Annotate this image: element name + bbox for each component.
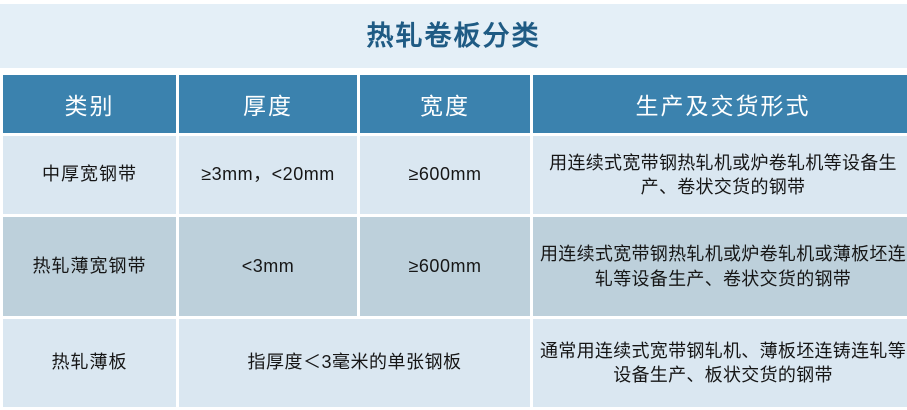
title-banner: 热轧卷板分类	[0, 4, 907, 68]
column-header-category: 类别	[3, 75, 176, 133]
document-root: 热轧卷板分类 类别 厚度 宽度 生产及交货形式 中厚宽钢带	[0, 0, 907, 402]
table-row: 热轧薄板 指厚度＜3毫米的单张钢板 通常用连续式宽带钢轧机、薄板坯连铸连轧等设备…	[3, 319, 907, 407]
page-title: 热轧卷板分类	[367, 23, 541, 50]
classification-table-wrapper: 类别 厚度 宽度 生产及交货形式 中厚宽钢带 ≥3mm，<20mm ≥600mm…	[0, 72, 907, 410]
table-row: 中厚宽钢带 ≥3mm，<20mm ≥600mm 用连续式宽带钢热轧机或炉卷轧机等…	[3, 136, 907, 214]
cell-thickness: <3mm	[179, 217, 357, 316]
column-header-width: 宽度	[360, 75, 530, 133]
classification-table: 类别 厚度 宽度 生产及交货形式 中厚宽钢带 ≥3mm，<20mm ≥600mm…	[0, 72, 907, 410]
table-body: 中厚宽钢带 ≥3mm，<20mm ≥600mm 用连续式宽带钢热轧机或炉卷轧机等…	[3, 136, 907, 407]
cell-description: 用连续式宽带钢热轧机或炉卷轧机或薄板坯连轧等设备生产、卷状交货的钢带	[533, 217, 907, 316]
cell-category: 中厚宽钢带	[3, 136, 176, 214]
cell-description: 用连续式宽带钢热轧机或炉卷轧机等设备生产、卷状交货的钢带	[533, 136, 907, 214]
column-header-thickness: 厚度	[179, 75, 357, 133]
cell-thickness-width-merged: 指厚度＜3毫米的单张钢板	[179, 319, 530, 407]
cell-thickness: ≥3mm，<20mm	[179, 136, 357, 214]
cell-width: ≥600mm	[360, 136, 530, 214]
table-header: 类别 厚度 宽度 生产及交货形式	[3, 75, 907, 133]
cell-width: ≥600mm	[360, 217, 530, 316]
column-header-production-delivery: 生产及交货形式	[533, 75, 907, 133]
cell-category: 热轧薄板	[3, 319, 176, 407]
cell-category: 热轧薄宽钢带	[3, 217, 176, 316]
table-header-row: 类别 厚度 宽度 生产及交货形式	[3, 75, 907, 133]
table-row: 热轧薄宽钢带 <3mm ≥600mm 用连续式宽带钢热轧机或炉卷轧机或薄板坯连轧…	[3, 217, 907, 316]
cell-description: 通常用连续式宽带钢轧机、薄板坯连铸连轧等设备生产、板状交货的钢带	[533, 319, 907, 407]
